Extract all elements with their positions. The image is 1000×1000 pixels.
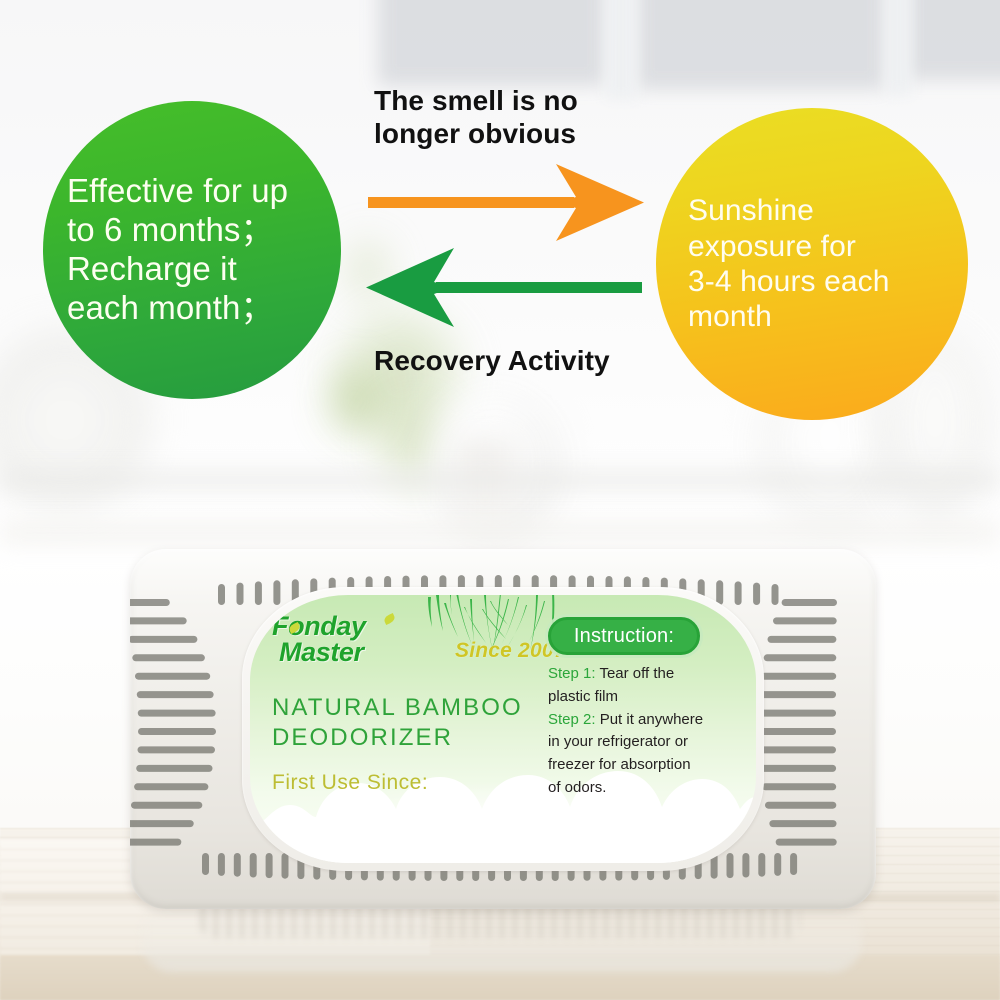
instruction-step-label: Step 1: bbox=[548, 665, 599, 682]
instruction-block: Instruction: Step 1: Tear off theplastic… bbox=[548, 617, 744, 800]
instruction-step-line: of odors. bbox=[548, 777, 744, 800]
cabinet-panel-1 bbox=[378, 0, 606, 86]
cabinet-divider-2 bbox=[886, 0, 912, 95]
brand-logo: Fonday Master bbox=[272, 613, 462, 666]
effectiveness-bubble: Effective for up to 6 months； Recharge i… bbox=[43, 101, 341, 399]
cabinet-panel-3 bbox=[905, 0, 1000, 80]
instruction-step-text: freezer for absorption bbox=[548, 756, 691, 773]
background-shelf-line-1 bbox=[0, 470, 1000, 490]
instruction-step-line: plastic film bbox=[548, 686, 744, 709]
instruction-step-text: of odors. bbox=[548, 779, 606, 796]
instruction-step-text: Tear off the bbox=[599, 665, 674, 682]
instruction-step-line: Step 2: Put it anywhere bbox=[548, 709, 744, 732]
top-caption: The smell is no longer obvious bbox=[374, 84, 634, 150]
instruction-step-line: freezer for absorption bbox=[548, 754, 744, 777]
instruction-step-line: Step 1: Tear off the bbox=[548, 663, 744, 686]
product-label: Fonday Master Since 2007 NATURAL BAMBOO … bbox=[250, 595, 756, 863]
product-name-line-2: DEODORIZER bbox=[272, 724, 453, 751]
instruction-steps-list: Step 1: Tear off theplastic filmStep 2: … bbox=[548, 663, 744, 800]
product-name-line-1: NATURAL BAMBOO bbox=[272, 694, 523, 721]
first-use-field-label: First Use Since: bbox=[272, 771, 428, 795]
recharge-bubble: Sunshine exposure for 3-4 hours each mon… bbox=[656, 108, 968, 420]
instruction-step-text: plastic film bbox=[548, 688, 618, 705]
top-caption-line-1: The smell is no bbox=[374, 85, 578, 116]
brand-name-line-1: Fonday bbox=[272, 613, 462, 639]
bottom-caption-line-1: Recovery Activity bbox=[374, 345, 610, 376]
recharge-bubble-text: Sunshine exposure for 3-4 hours each mon… bbox=[688, 193, 942, 335]
top-caption-line-2: longer obvious bbox=[374, 118, 576, 149]
background-shelf-line-2 bbox=[0, 520, 1000, 546]
infographic-canvas: Effective for up to 6 months； Recharge i… bbox=[0, 0, 1000, 1000]
cabinet-panel-2 bbox=[636, 0, 886, 90]
effectiveness-bubble-text: Effective for up to 6 months； Recharge i… bbox=[67, 172, 319, 328]
product-name: NATURAL BAMBOO DEODORIZER bbox=[272, 693, 572, 753]
brand-name-line-2: Master bbox=[279, 639, 462, 665]
instruction-step-label: Step 2: bbox=[548, 711, 600, 728]
arrow-right-icon bbox=[368, 162, 644, 246]
vent-slots-left bbox=[130, 589, 256, 869]
instruction-heading-pill: Instruction: bbox=[548, 617, 700, 655]
arrow-left-icon bbox=[362, 246, 642, 332]
bamboo-deodorizer-device: Fonday Master Since 2007 NATURAL BAMBOO … bbox=[130, 549, 876, 909]
bottom-caption: Recovery Activity bbox=[374, 344, 654, 377]
instruction-step-text: Put it anywhere bbox=[600, 711, 703, 728]
instruction-step-line: in your refrigerator or bbox=[548, 731, 744, 754]
vent-slots-right bbox=[750, 589, 876, 869]
instruction-heading-text: Instruction: bbox=[574, 625, 674, 648]
instruction-step-text: in your refrigerator or bbox=[548, 733, 688, 750]
